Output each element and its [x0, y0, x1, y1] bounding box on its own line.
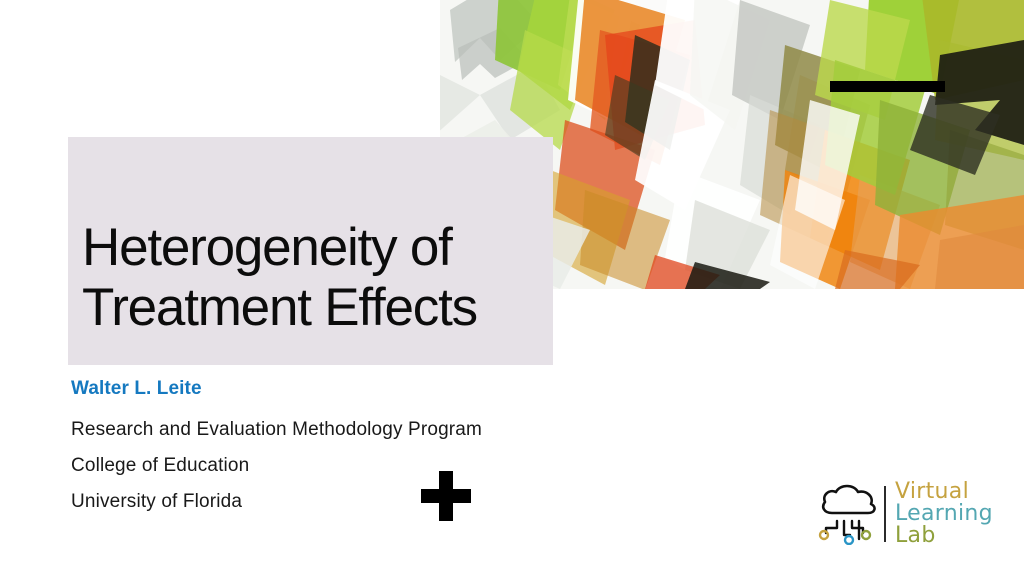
- logo-word-lab: Lab: [895, 525, 993, 547]
- affiliation-line-program: Research and Evaluation Methodology Prog…: [71, 412, 631, 448]
- logo-word-learning: Learning: [895, 503, 993, 525]
- logo-wordmark: Virtual Learning Lab: [895, 481, 993, 547]
- logo-divider: [884, 486, 886, 542]
- byline-block: Walter L. Leite Research and Evaluation …: [71, 376, 631, 520]
- affiliation-line-college: College of Education: [71, 448, 631, 484]
- page-title: Heterogeneity of Treatment Effects: [82, 218, 552, 338]
- hero-black-bar: [830, 81, 945, 92]
- virtual-learning-lab-logo: Virtual Learning Lab: [816, 479, 1001, 549]
- affiliation-line-university: University of Florida: [71, 484, 631, 520]
- author-name: Walter L. Leite: [71, 376, 631, 402]
- plus-icon: [421, 471, 471, 521]
- cloud-circuit-icon: [816, 483, 882, 545]
- plus-icon-vertical-bar: [439, 471, 453, 521]
- logo-word-virtual: Virtual: [895, 481, 993, 503]
